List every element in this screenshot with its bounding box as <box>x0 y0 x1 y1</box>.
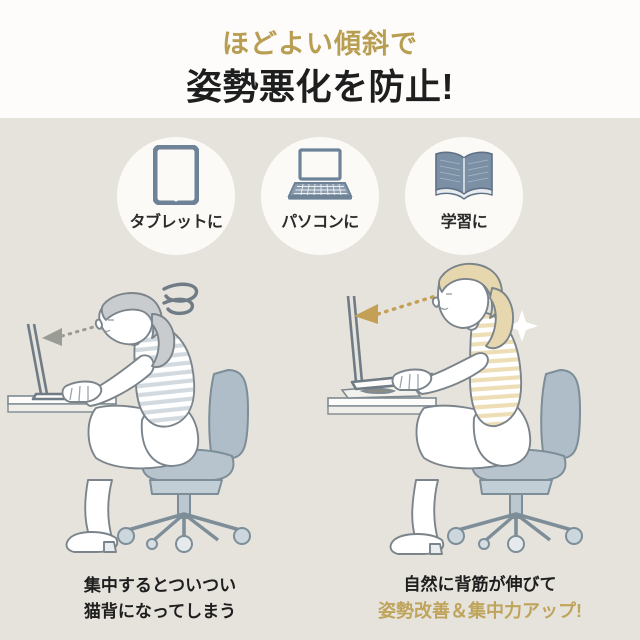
caption-good-posture: 自然に背筋が伸びて 姿勢改善＆集中力アップ! <box>320 558 640 640</box>
caption-bad-line2: 猫背になってしまう <box>0 599 320 625</box>
tablet-icon <box>117 137 235 207</box>
feature-label-tablet: タブレットに <box>129 208 222 232</box>
feature-circle-study[interactable]: 学習に <box>405 137 523 255</box>
feature-label-laptop: パソコンに <box>281 208 359 232</box>
page-subtitle: ほどよい傾斜で <box>0 22 640 61</box>
feature-circle-tablet[interactable]: タブレットに <box>117 137 235 255</box>
feature-circle-laptop[interactable]: パソコンに <box>261 137 379 255</box>
illustration-stage <box>0 258 640 558</box>
laptop-icon <box>261 137 379 207</box>
desk <box>328 398 436 414</box>
caption-good-line1: 自然に背筋が伸びて <box>320 572 640 598</box>
feature-label-study: 学習に <box>441 208 488 232</box>
page-title: 姿勢悪化を防止! <box>0 58 640 110</box>
open-book-icon <box>405 137 523 207</box>
feature-circle-row: タブレットに <box>0 132 640 260</box>
good-posture-illustration <box>320 258 640 558</box>
caption-row: 集中するとついつい 猫背になってしまう 自然に背筋が伸びて 姿勢改善＆集中力アッ… <box>0 558 640 640</box>
caption-good-line2: 姿勢改善＆集中力アップ! <box>320 598 640 626</box>
caption-bad-posture: 集中するとついつい 猫背になってしまう <box>0 558 320 640</box>
bad-posture-illustration <box>0 258 320 558</box>
fatigue-squiggle-icon <box>164 284 197 313</box>
caption-bad-line1: 集中するとついつい <box>0 573 320 599</box>
